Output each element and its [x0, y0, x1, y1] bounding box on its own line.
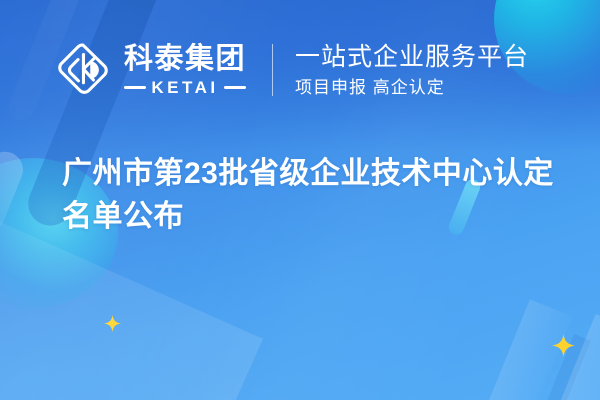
- brand-wordmark: 科泰集团 KETAI: [124, 45, 246, 96]
- background-stripe-right-2: [521, 314, 600, 400]
- wordmark-dash-right: [224, 86, 246, 89]
- page-title: 广州市第23批省级企业技术中心认定名单公布: [62, 152, 562, 238]
- wordmark-dash-left: [124, 86, 146, 89]
- background-stripe-right-3: [499, 334, 591, 400]
- ketai-diamond-kd-monogram-icon: [54, 41, 112, 99]
- brand-name-en-row: KETAI: [124, 79, 246, 96]
- background-chip-left: [0, 146, 28, 237]
- promo-banner: 科泰集团 KETAI 一站式企业服务平台 项目申报 高企认定 广州市第23批省级…: [0, 0, 600, 400]
- slogan-sub: 项目申报 高企认定: [295, 78, 529, 98]
- slogan-main: 一站式企业服务平台: [295, 43, 529, 71]
- header-divider: [272, 44, 273, 96]
- brand-name-en: KETAI: [151, 79, 218, 96]
- banner-header: 科泰集团 KETAI 一站式企业服务平台 项目申报 高企认定: [0, 0, 600, 140]
- slogan-block: 一站式企业服务平台 项目申报 高企认定: [295, 43, 529, 98]
- sparkle-icon-right: [552, 334, 575, 357]
- brand-logo[interactable]: 科泰集团 KETAI: [54, 41, 246, 99]
- sparkle-icon-left: [104, 315, 121, 332]
- title-block: 广州市第23批省级企业技术中心认定名单公布: [62, 152, 562, 238]
- brand-name-cn: 科泰集团: [124, 45, 246, 74]
